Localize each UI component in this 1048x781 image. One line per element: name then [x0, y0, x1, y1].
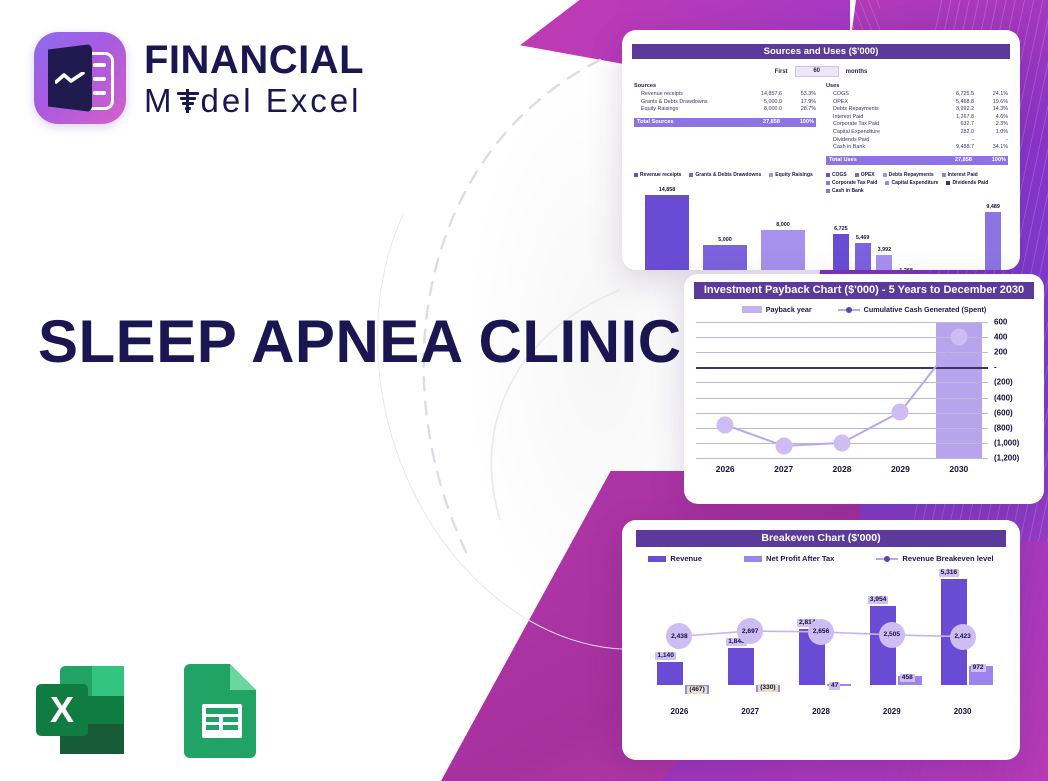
legend-npat-label: Net Profit After Tax [766, 554, 834, 563]
uses-heading: Uses [826, 83, 1008, 89]
y-axis-tick: (1,000) [994, 438, 1019, 447]
legend-swatch-icon [885, 181, 889, 185]
legend-revenue-label: Revenue [670, 554, 702, 563]
y-axis-tick: 400 [994, 333, 1007, 342]
bar-item: 1,268 [898, 194, 914, 270]
breakeven-plot-area: 1,140(467)1,848(330)2,814473,9544585,316… [644, 573, 998, 699]
period-suffix-label: months [846, 69, 868, 75]
legend-swatch-revenue-icon [648, 556, 666, 562]
breakeven-point: 2,505 [879, 622, 905, 648]
legend-item: OPEX [855, 172, 875, 178]
bar-item: 14,858 [645, 178, 689, 270]
table-row: Revenue receipts14,857.653.3% [634, 91, 816, 99]
bar-item: 5,469 [855, 194, 871, 270]
legend-swatch-icon [942, 173, 946, 177]
legend-swatch-icon [855, 173, 859, 177]
y-axis-tick: (600) [994, 408, 1013, 417]
legend-swatch-line-icon [838, 309, 860, 311]
legend-cumulative-cash: Cumulative Cash Generated (Spent) [838, 305, 987, 314]
legend-swatch-icon [826, 173, 830, 177]
bar-item: 9,489 [985, 194, 1001, 270]
legend-item: Capital Expenditure [885, 180, 938, 186]
sources-bars: 14,8585,0008,000 [634, 178, 816, 270]
y-axis-tick: (200) [994, 378, 1013, 387]
bar-item: 633 [920, 194, 936, 270]
legend-revenue: Revenue [648, 554, 702, 563]
period-selector[interactable]: First 60 months [622, 66, 1020, 77]
y-axis-tick: (400) [994, 393, 1013, 402]
sources-heading: Sources [634, 83, 816, 89]
table-row: Equity Raisings8,000.028.7% [634, 106, 816, 114]
card-sources-and-uses[interactable]: Sources and Uses ($'000) First 60 months… [622, 30, 1020, 270]
uses-total-label: Total Uses [826, 156, 928, 165]
period-prefix-label: First [775, 69, 788, 75]
microsoft-excel-icon: X [30, 660, 130, 760]
uses-table: Uses COGS6,725.524.1%OPEX5,468.819.6%Deb… [826, 83, 1008, 165]
brand-name-line2: M del Excel [144, 84, 364, 117]
legend-swatch-icon [826, 189, 830, 193]
gridline [696, 458, 988, 459]
legend-swatch-npat-icon [744, 556, 762, 562]
y-axis-tick: - [994, 363, 997, 372]
legend-breakeven-label: Revenue Breakeven level [902, 554, 993, 563]
x-axis-tick: 2030 [930, 464, 988, 474]
breakeven-legend: Revenue Net Profit After Tax Revenue Bre… [622, 554, 1020, 563]
sources-bar-chart: Revenue receiptsGrants & Debts Drawdowns… [634, 167, 816, 270]
breakeven-point: 2,697 [737, 618, 763, 644]
logo-mark-icon [34, 32, 126, 124]
sources-uses-title: Sources and Uses ($'000) [632, 44, 1010, 59]
x-axis-tick: 2026 [644, 707, 715, 716]
sources-total-label: Total Sources [634, 118, 736, 127]
sources-table: Sources Revenue receipts14,857.653.3%Gra… [634, 83, 816, 165]
table-row: Capital Expenditure282.01.0% [826, 129, 1008, 137]
uses-total-value: 27,858 [928, 156, 972, 165]
data-point [834, 434, 851, 451]
table-row: COGS6,725.524.1% [826, 91, 1008, 99]
legend-swatch-icon [634, 173, 638, 177]
breakeven-title: Breakeven Chart ($'000) [636, 530, 1006, 547]
legend-swatch-icon [883, 173, 887, 177]
legend-swatch-bar-icon [742, 306, 762, 313]
bar-item: 5,000 [703, 178, 747, 270]
legend-item: Corporate Tax Paid [826, 180, 877, 186]
legend-breakeven-level: Revenue Breakeven level [876, 554, 993, 563]
table-row: Corporate Tax Paid632.72.3% [826, 121, 1008, 129]
uses-bars: 6,7255,4693,9921,26863328209,489 [826, 194, 1008, 270]
breakeven-point: 2,438 [666, 623, 692, 649]
y-axis-tick: (800) [994, 423, 1013, 432]
y-axis-tick: 200 [994, 348, 1007, 357]
y-axis-tick: 600 [994, 318, 1007, 327]
uses-bar-chart: COGSOPEXDebts RepaymentsInterest PaidCor… [826, 167, 1008, 270]
legend-item: Dividends Paid [946, 180, 988, 186]
payback-x-axis: 20262027202820292030 [696, 464, 988, 474]
legend-payback-year: Payback year [742, 305, 812, 314]
legend-item: COGS [826, 172, 847, 178]
bar-item: 6,725 [833, 194, 849, 270]
table-row: Grants & Debts Drawdowns5,000.017.9% [634, 99, 816, 107]
bar-item: 282 [942, 194, 958, 270]
gear-o-icon [177, 89, 199, 111]
sources-total-pct: 100% [780, 118, 816, 127]
brand-line2-prefix: M [144, 84, 175, 117]
svg-text:X: X [50, 689, 74, 730]
uses-total-row: Total Uses 27,858 100% [826, 156, 1008, 165]
x-axis-tick: 2028 [813, 464, 871, 474]
sources-total-row: Total Sources 27,858 100% [634, 118, 816, 127]
legend-payback-year-label: Payback year [766, 305, 812, 314]
logo-chart-line-icon [55, 72, 85, 86]
breakeven-point: 2,423 [950, 624, 976, 650]
uses-chart-legend: COGSOPEXDebts RepaymentsInterest PaidCor… [826, 172, 1008, 194]
table-row: Debts Repayments3,992.214.3% [826, 106, 1008, 114]
payback-legend: Payback year Cumulative Cash Generated (… [684, 305, 1044, 314]
legend-swatch-icon [826, 181, 830, 185]
bar-item: 8,000 [761, 178, 805, 270]
bar-item: 0 [963, 194, 979, 270]
x-axis-tick: 2028 [786, 707, 857, 716]
legend-swatch-icon [769, 173, 773, 177]
sources-uses-charts: Revenue receiptsGrants & Debts Drawdowns… [622, 165, 1020, 270]
x-axis-tick: 2027 [754, 464, 812, 474]
data-point [717, 416, 734, 433]
card-breakeven[interactable]: Breakeven Chart ($'000) Revenue Net Prof… [622, 520, 1020, 760]
data-point [892, 403, 909, 420]
payback-plot-area: 600400200-(200)(400)(600)(800)(1,000)(1,… [696, 322, 988, 458]
card-investment-payback[interactable]: Investment Payback Chart ($'000) - 5 Yea… [684, 274, 1044, 504]
table-row: Dividends Paid-- [826, 137, 1008, 145]
table-row: Cash in Bank9,488.734.1% [826, 144, 1008, 152]
table-row: Interest Paid1,267.84.6% [826, 114, 1008, 122]
x-axis-tick: 2026 [696, 464, 754, 474]
legend-item: Debts Repayments [883, 172, 934, 178]
data-point [950, 329, 967, 346]
y-axis-tick: (1,200) [994, 454, 1019, 463]
brand-logo: FINANCIAL M del Excel [34, 32, 364, 124]
x-axis-tick: 2029 [871, 464, 929, 474]
payback-title: Investment Payback Chart ($'000) - 5 Yea… [694, 282, 1034, 299]
x-axis-tick: 2027 [715, 707, 786, 716]
brand-line2-suffix: del Excel [201, 84, 362, 117]
uses-total-pct: 100% [972, 156, 1008, 165]
period-months-input[interactable]: 60 [795, 66, 839, 77]
legend-swatch-icon [946, 181, 950, 185]
legend-swatch-breakeven-icon [876, 558, 898, 560]
file-format-icons: X [30, 660, 270, 760]
slide-canvas: FINANCIAL M del Excel SLEEP APNEA CLINIC… [0, 0, 1048, 781]
legend-cumulative-cash-label: Cumulative Cash Generated (Spent) [864, 305, 987, 314]
legend-item: Interest Paid [942, 172, 978, 178]
brand-name-line1: FINANCIAL [144, 40, 364, 80]
google-sheets-icon [170, 660, 270, 760]
legend-npat: Net Profit After Tax [744, 554, 834, 563]
sources-uses-tables: Sources Revenue receipts14,857.653.3%Gra… [622, 77, 1020, 165]
table-row: OPEX5,468.819.6% [826, 99, 1008, 107]
breakeven-x-axis: 20262027202820292030 [644, 707, 998, 716]
x-axis-tick: 2030 [927, 707, 998, 716]
legend-swatch-icon [689, 173, 693, 177]
bar-item: 3,992 [876, 194, 892, 270]
breakeven-point: 2,656 [808, 619, 834, 645]
sources-total-value: 27,858 [736, 118, 780, 127]
page-title: SLEEP APNEA CLINIC [38, 305, 682, 378]
data-point [775, 437, 792, 454]
x-axis-tick: 2029 [856, 707, 927, 716]
